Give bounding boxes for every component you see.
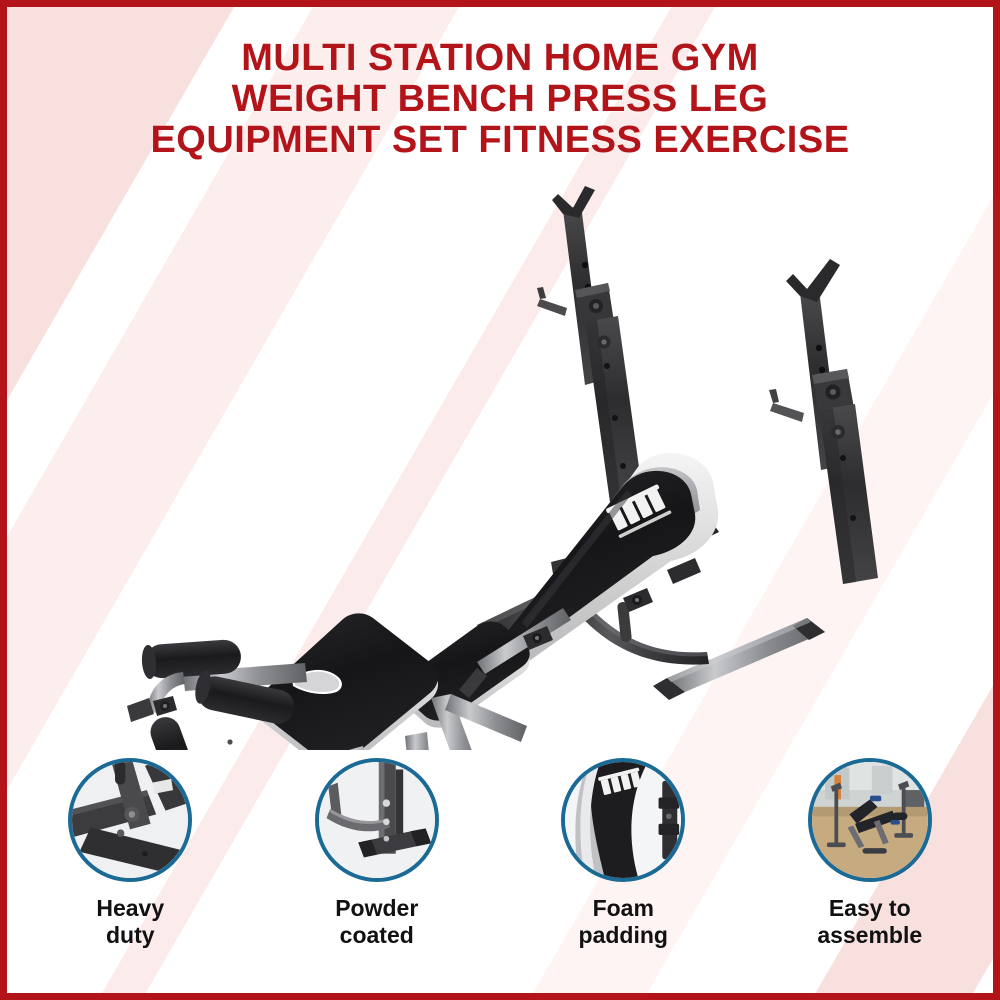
feature-label-line1: Foam <box>593 895 654 921</box>
title-line-2: WEIGHT BENCH PRESS LEG <box>0 79 1000 120</box>
title-line-1: MULTI STATION HOME GYM <box>0 38 1000 79</box>
assembled-bench-photo-icon <box>808 758 932 882</box>
powder-coated-art <box>319 762 435 878</box>
product-photo <box>7 170 993 750</box>
feature-badges: Heavy duty <box>7 758 993 988</box>
left-rack-post <box>537 186 643 502</box>
feature-label-powder-coated: Powder coated <box>335 895 418 949</box>
product-listing-image: MULTI STATION HOME GYM WEIGHT BENCH PRES… <box>0 0 1000 1000</box>
powder-coated-post-icon <box>315 758 439 882</box>
feature-label-line1: Heavy <box>96 895 164 921</box>
feature-label-line2: duty <box>106 922 155 948</box>
feature-label-line2: coated <box>340 922 414 948</box>
feature-label-line2: assemble <box>817 922 922 948</box>
feature-label-easy-to-assemble: Easy to assemble <box>817 895 922 949</box>
feature-powder-coated: Powder coated <box>272 758 482 949</box>
product-title: MULTI STATION HOME GYM WEIGHT BENCH PRES… <box>0 38 1000 161</box>
feature-label-line1: Powder <box>335 895 418 921</box>
feature-foam-padding: Foam padding <box>518 758 728 949</box>
foam-roller-upper <box>141 639 242 680</box>
title-line-3: EQUIPMENT SET FITNESS EXERCISE <box>0 120 1000 161</box>
gym-room-photo-art <box>812 762 928 878</box>
foam-pad-art <box>565 762 681 878</box>
feature-label-line1: Easy to <box>829 895 911 921</box>
feature-label-line2: padding <box>579 922 668 948</box>
feature-label-heavy-duty: Heavy duty <box>96 895 164 949</box>
feature-heavy-duty: Heavy duty <box>25 758 235 949</box>
feature-easy-to-assemble: Easy to assemble <box>765 758 975 949</box>
right-rack-post <box>769 259 878 584</box>
weight-bench-illustration <box>7 170 993 750</box>
feature-label-foam-padding: Foam padding <box>579 895 668 949</box>
foam-pad-closeup-icon <box>561 758 685 882</box>
frame-joint-art <box>72 762 188 878</box>
frame-joint-closeup-icon <box>68 758 192 882</box>
foam-grip <box>146 713 197 750</box>
